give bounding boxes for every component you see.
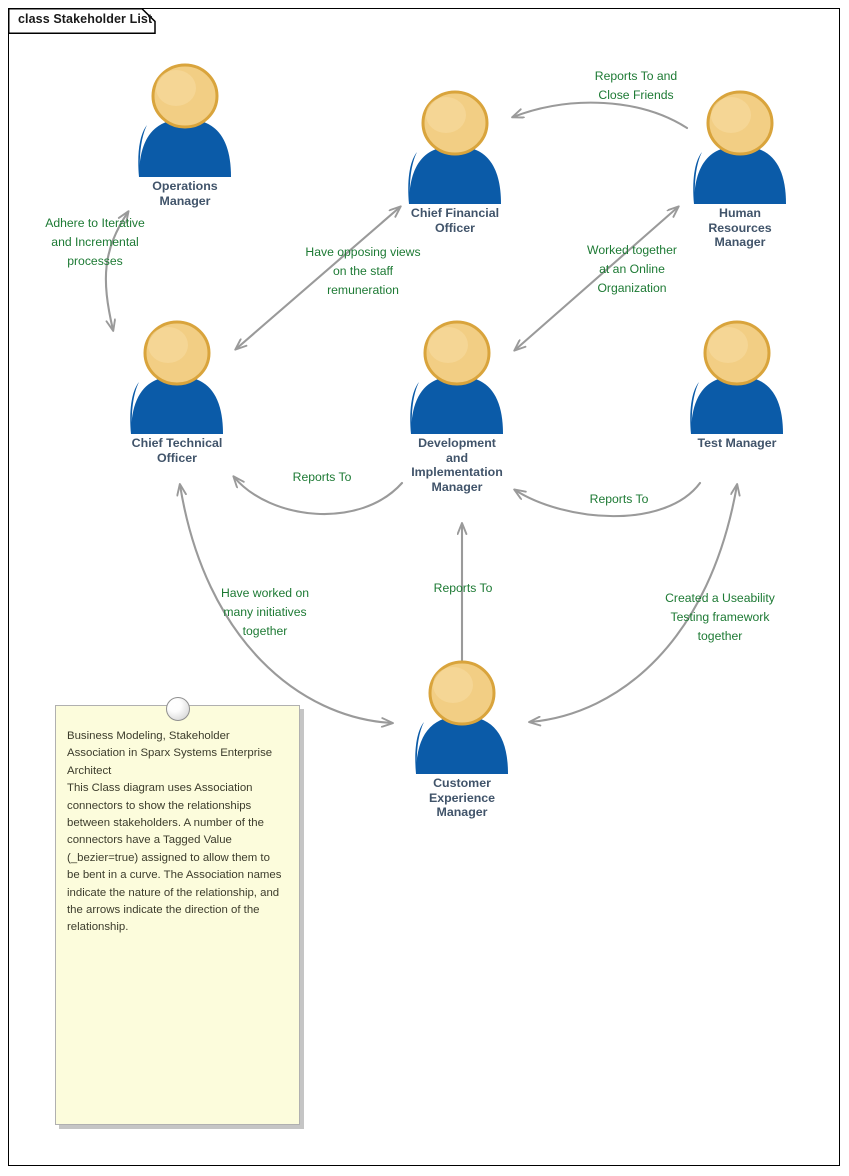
- actor-person-icon: [680, 90, 800, 205]
- frame-title-tab[interactable]: class Stakeholder List: [8, 8, 156, 34]
- actor-development-and-implementation-manager[interactable]: Development and Implementation Manager: [397, 320, 517, 494]
- actor-chief-financial-officer[interactable]: Chief Financial Officer: [395, 90, 515, 235]
- actor-label: Chief Technical Officer: [117, 436, 237, 465]
- note-anchor-handle-icon[interactable]: [166, 697, 190, 721]
- actor-label: Customer Experience Manager: [402, 776, 522, 820]
- actor-person-icon: [117, 320, 237, 435]
- actor-operations-manager[interactable]: Operations Manager: [125, 63, 245, 208]
- actor-label: Human Resources Manager: [680, 206, 800, 250]
- actor-chief-technical-officer[interactable]: Chief Technical Officer: [117, 320, 237, 465]
- diagram-note[interactable]: Business Modeling, Stakeholder Associati…: [55, 705, 300, 1125]
- actor-person-icon: [397, 320, 517, 435]
- actor-test-manager[interactable]: Test Manager: [677, 320, 797, 451]
- diagram-note-text: Business Modeling, Stakeholder Associati…: [56, 706, 299, 947]
- actor-label: Test Manager: [677, 436, 797, 451]
- actor-label: Development and Implementation Manager: [397, 436, 517, 494]
- actor-person-icon: [677, 320, 797, 435]
- actor-customer-experience-manager[interactable]: Customer Experience Manager: [402, 660, 522, 820]
- actor-human-resources-manager[interactable]: Human Resources Manager: [680, 90, 800, 250]
- actor-label: Operations Manager: [125, 179, 245, 208]
- actor-person-icon: [395, 90, 515, 205]
- frame-title-label: class Stakeholder List: [18, 12, 152, 26]
- actor-person-icon: [125, 63, 245, 178]
- actor-label: Chief Financial Officer: [395, 206, 515, 235]
- actor-person-icon: [402, 660, 522, 775]
